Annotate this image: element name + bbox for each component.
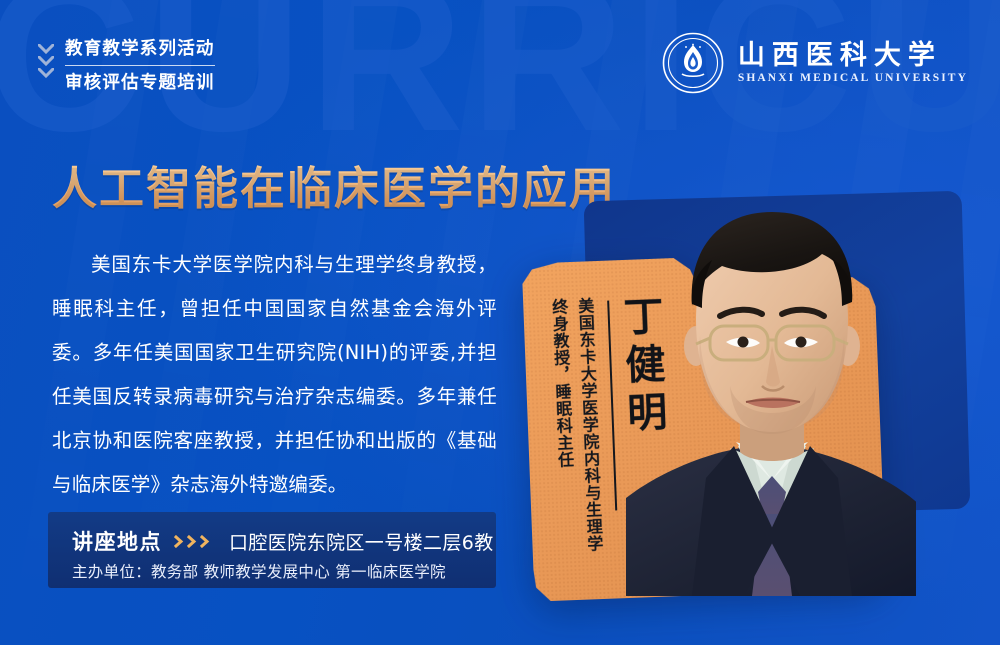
portrait-illustration [626, 196, 916, 596]
organizers: 主办单位：教务部 教师教学发展中心 第一临床医学院 [72, 560, 446, 582]
chevron-stack [38, 40, 54, 79]
kicker-divider [65, 65, 215, 66]
page-title: 人工智能在临床医学的应用 [52, 152, 616, 217]
university-logo: 山西医科大学 SHANXI MEDICAL UNIVERSITY [662, 32, 968, 94]
chevron-right-icon [187, 535, 198, 548]
chevron-down-icon [38, 44, 54, 55]
chevron-down-icon [38, 68, 54, 79]
chevron-right-icon [200, 535, 211, 548]
venue-value: 口腔医院东院区一号楼二层6教 [229, 528, 494, 555]
university-seal-icon [662, 32, 724, 94]
arrow-group [174, 535, 211, 548]
university-name-en: SHANXI MEDICAL UNIVERSITY [738, 73, 968, 85]
vertical-divider [607, 301, 617, 511]
chevron-right-icon [174, 535, 185, 548]
kicker-line-1: 教育教学系列活动 [65, 40, 215, 58]
speaker-portrait [626, 196, 916, 596]
kicker-line-2: 审核评估专题培训 [65, 74, 215, 92]
kicker-block: 教育教学系列活动 审核评估专题培训 [38, 40, 215, 91]
speaker-credentials: 美国东卡大学医学院内科与生理学终身教授，睡眠科主任 [545, 297, 607, 557]
chevron-down-icon [38, 56, 54, 67]
speaker-bio: 美国东卡大学医学院内科与生理学终身教授，睡眠科主任，曾担任中国国家自然基金会海外… [52, 243, 497, 507]
venue-info-bar: 讲座地点 口腔医院东院区一号楼二层6教 主办单位：教务部 教师教学发展中心 第一… [48, 512, 496, 588]
venue-row: 讲座地点 口腔医院东院区一号楼二层6教 [72, 526, 494, 556]
university-name-cn: 山西医科大学 [738, 42, 968, 69]
poster-canvas: CURRICULUM 教育教学系列活动 审核评估专题培训 山西医科大学 [0, 0, 1000, 645]
venue-label: 讲座地点 [72, 526, 162, 556]
